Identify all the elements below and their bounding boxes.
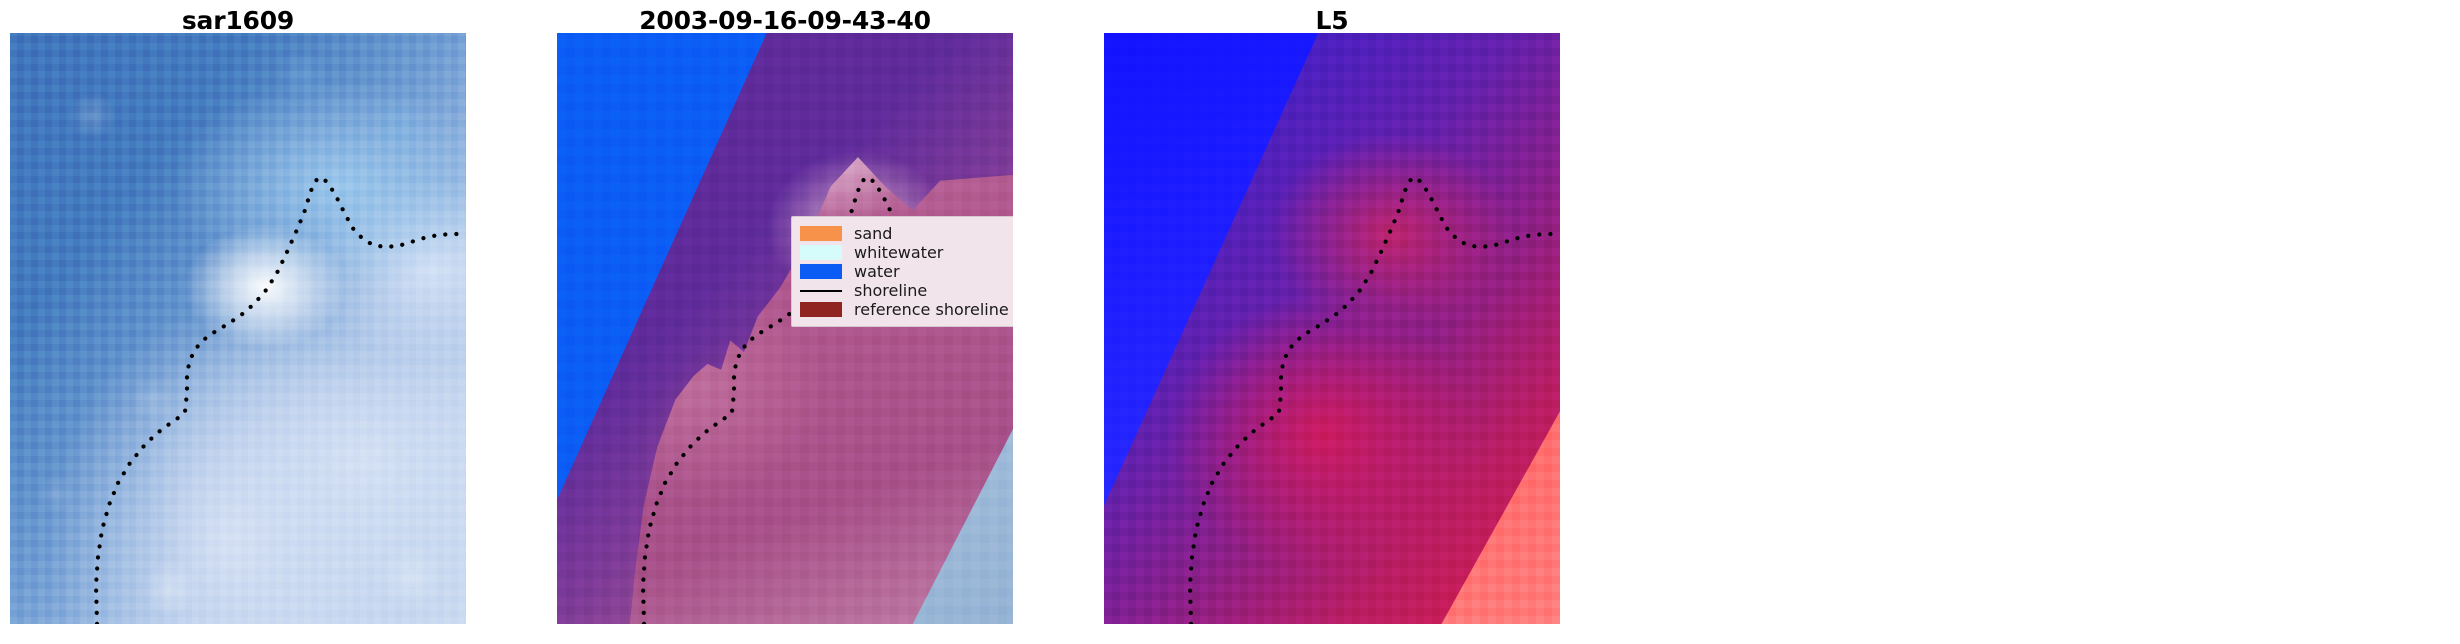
panel-title-1: sar1609 <box>10 6 466 35</box>
panel-image-2[interactable]: sand whitewater water shoreline referenc… <box>557 33 1013 624</box>
legend-item-shoreline: shoreline <box>800 281 1013 300</box>
legend-item-reference-shoreline-buffer: reference shoreline buffer <box>800 300 1013 319</box>
legend-label-whitewater: whitewater <box>854 243 943 262</box>
legend-item-whitewater: whitewater <box>800 243 1013 262</box>
panel-image-1[interactable] <box>10 33 466 624</box>
panel-title-3: L5 <box>1104 6 1560 35</box>
shoreline-overlay-2 <box>557 33 1013 624</box>
legend-label-water: water <box>854 262 900 281</box>
legend-label-reference-shoreline-buffer: reference shoreline buffer <box>854 300 1013 319</box>
panel-title-2: 2003-09-16-09-43-40 <box>557 6 1013 35</box>
shoreline-overlay-3 <box>1104 33 1560 624</box>
legend-swatch-sand-icon <box>800 226 842 241</box>
panel-image-3[interactable] <box>1104 33 1560 624</box>
legend-label-shoreline: shoreline <box>854 281 927 300</box>
panel-sar1609: sar1609 <box>10 0 466 644</box>
legend-item-water: water <box>800 262 1013 281</box>
figure-canvas: sar1609 2003-09-16-09-43-40 <box>0 0 2460 644</box>
legend-swatch-reference-buffer-icon <box>800 302 842 317</box>
panel-L5: L5 <box>1104 0 1560 644</box>
shoreline-overlay-1 <box>10 33 466 624</box>
legend-box: sand whitewater water shoreline referenc… <box>791 216 1013 327</box>
legend-swatch-whitewater-icon <box>800 245 842 260</box>
legend-swatch-water-icon <box>800 264 842 279</box>
legend-line-shoreline-icon <box>800 283 842 298</box>
legend-item-sand: sand <box>800 224 1013 243</box>
panel-2003-09-16-09-43-40: 2003-09-16-09-43-40 sand whit <box>557 0 1013 644</box>
legend-label-sand: sand <box>854 224 892 243</box>
